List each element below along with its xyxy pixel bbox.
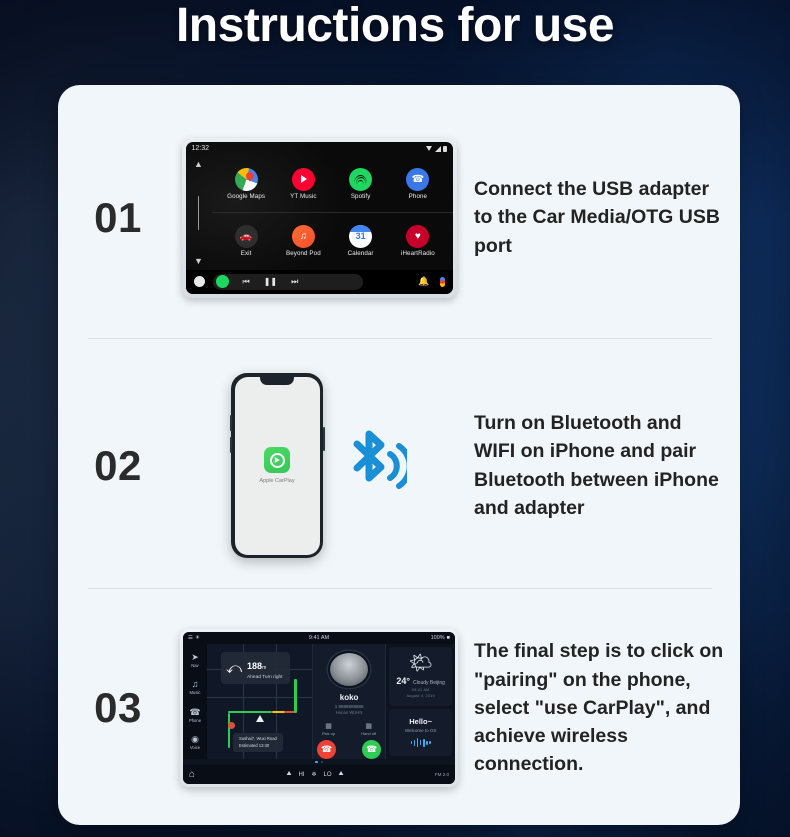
spotify-mini-icon[interactable] (216, 275, 229, 288)
status-time: 12:32 (192, 145, 210, 152)
volume-down-button[interactable] (230, 437, 232, 453)
step-media-1: 12:32 ▲ ▼ (178, 138, 460, 298)
calendar-day: 31 (349, 231, 372, 241)
turn-instruction-card: ⤺ 188m Ahead Turn right (221, 652, 290, 684)
step-number-2: 02 (58, 442, 178, 490)
previous-icon[interactable]: ⏮ (243, 277, 250, 287)
power-button[interactable] (323, 427, 325, 451)
iphone-device: Apple CarPlay (231, 373, 323, 558)
chevron-down-icon[interactable]: ▼ (194, 257, 203, 266)
step-number-3: 03 (58, 684, 178, 732)
eta-card: Sushai7, Wuxi Road Estimated 13:40 (233, 733, 283, 752)
battery-icon (443, 146, 447, 152)
step-item-1: 01 12:32 ▲ (58, 95, 740, 340)
turn-instruction: Ahead Turn right (247, 675, 282, 680)
app-label: Beyond Pod (276, 250, 330, 257)
media-controls: ⏮ ❚❚ ⏭ (213, 274, 363, 290)
turn-right-icon: ⤺ (226, 661, 242, 676)
wifi-icon: ☀ (195, 635, 200, 641)
bluetooth-icon (335, 420, 407, 512)
app-label: Spotify (334, 193, 388, 200)
eta-time: Estimated 13:40 (239, 743, 277, 749)
greeting-title: Hello~ (409, 717, 432, 726)
app-label: YT Music (276, 193, 330, 200)
weather-temperature: 24° (396, 676, 410, 686)
sidebar-item-voice[interactable]: ◉ Voice (190, 735, 200, 750)
app-phone[interactable]: ☎ Phone (391, 168, 445, 200)
carplay-bottom-bar: ⌂ ⛰ HI ❄ LO ⛰ FM 2.0 (183, 765, 455, 784)
app-label: Phone (391, 193, 445, 200)
app-google-maps[interactable]: Google Maps (219, 168, 273, 200)
exit-car-icon: 🚗 (235, 225, 258, 248)
music-note-icon: ♫ (190, 680, 201, 689)
step-text-3: The final step is to click on "pairing" … (460, 637, 740, 778)
accept-call-icon[interactable]: ☎ (362, 740, 381, 759)
beyondpod-icon: ♫ (292, 225, 315, 248)
caller-location: Hunan WUHN (336, 710, 363, 715)
pause-icon[interactable]: ❚❚ (264, 277, 277, 286)
instructions-card: 01 12:32 ▲ (58, 85, 740, 825)
greeting-widget[interactable]: Hello~ Welcome to OS (389, 709, 452, 756)
carplay-icon[interactable] (264, 447, 290, 473)
app-label: Google Maps (219, 193, 273, 200)
sidebar-item-nav[interactable]: ➤ Nav (191, 653, 199, 668)
sun-cloud-icon: 🌤 (409, 654, 433, 673)
defrost-front-icon[interactable]: ⛰ (286, 771, 291, 778)
home-icon[interactable]: ⌂ (189, 769, 195, 780)
carplay-map-panel[interactable]: ⤺ 188m Ahead Turn right Sushai7, Wuxi Ro… (207, 644, 312, 759)
volume-up-button[interactable] (230, 415, 232, 431)
app-spotify[interactable]: Spotify (334, 168, 388, 200)
app-row-1: Google Maps YT Music (212, 156, 453, 214)
climate-hi-label[interactable]: HI (298, 772, 304, 778)
carplay-head-unit: ☰ ☀ 9:41 AM 100% ■ ➤ Na (180, 629, 458, 787)
next-icon[interactable]: ⏭ (291, 277, 298, 287)
phone-icon: ☎ (406, 168, 429, 191)
caller-number: 1 8888888888 (335, 704, 364, 709)
sidebar-item-phone[interactable]: ☎ Phone (189, 708, 201, 723)
step-media-2: Apple CarPlay (178, 373, 460, 558)
battery-percent: 100% (431, 635, 445, 641)
step-item-2: 02 Apple CarPlay (58, 343, 740, 588)
sidebar-item-label: Voice (190, 745, 200, 750)
carplay-sidebar: ➤ Nav ♫ Music ☎ Phone (183, 644, 207, 759)
carplay-status-bar: ☰ ☀ 9:41 AM 100% ■ (183, 632, 455, 644)
wifi-icon (426, 146, 432, 151)
keypad-icon: ▦ (322, 722, 335, 730)
google-assistant-mic-icon[interactable] (440, 277, 445, 287)
greeting-subtitle: Welcome to OS (405, 728, 436, 733)
call-option-pickup[interactable]: ▦ Pick up (322, 722, 335, 736)
app-beyond-pod[interactable]: ♫ Beyond Pod (276, 225, 330, 257)
android-auto-head-unit: 12:32 ▲ ▼ (182, 138, 457, 298)
signal-icon (435, 146, 441, 152)
navigation-arrow-icon: ➤ (191, 653, 199, 662)
scrollbar-thumb[interactable] (198, 196, 200, 230)
android-auto-body: ▲ ▼ Google Maps (186, 156, 453, 270)
app-exit[interactable]: 🚗 Exit (219, 225, 273, 257)
climate-controls: ⛰ HI ❄ LO ⛰ (286, 771, 343, 778)
sidebar-item-label: Phone (189, 718, 201, 723)
carplay-app-label: Apple CarPlay (259, 478, 294, 484)
phone-handset-icon: ☎ (189, 708, 201, 717)
turn-distance: 188m (247, 661, 266, 671)
divider-2 (88, 588, 712, 589)
divider-1 (88, 338, 712, 339)
voice-circle-icon: ◉ (190, 735, 200, 744)
signal-icon: ☰ (188, 635, 193, 641)
avatar (328, 651, 370, 688)
sidebar-item-music[interactable]: ♫ Music (190, 680, 201, 695)
weather-time: 09:41 AM (412, 688, 430, 692)
carplay-call-panel: koko 1 8888888888 Hunan WUHN ▦ Pick up ▦ (312, 644, 386, 759)
android-auto-status-bar: 12:32 (186, 142, 453, 156)
weather-description: Cloudy Beijing (413, 680, 445, 686)
battery-icon: ■ (447, 635, 450, 641)
call-option-label: Hand off (361, 731, 376, 736)
defrost-rear-icon[interactable]: ⛰ (339, 771, 344, 778)
radio-label: FM 2.0 (435, 772, 449, 777)
page-title: Instructions for use (0, 0, 790, 56)
sidebar-item-label: Music (190, 690, 201, 695)
app-label: iHeartRadio (391, 250, 445, 257)
android-auto-app-grid: Google Maps YT Music (212, 156, 453, 270)
status-time: 9:41 AM (309, 635, 329, 641)
caller-name: koko (340, 693, 359, 702)
call-option-label: Pick up (322, 731, 335, 736)
app-calendar[interactable]: 31 Calendar (334, 225, 388, 257)
carplay-widgets-panel: 🌤 24° Cloudy Beijing 09:41 AM August 4, … (386, 644, 455, 759)
weather-widget[interactable]: 🌤 24° Cloudy Beijing 09:41 AM August 4, … (389, 647, 452, 706)
weather-date: August 4, 2019 (406, 694, 434, 698)
fan-icon[interactable]: ❄ (311, 771, 316, 778)
app-row-2: 🚗 Exit ♫ Beyond Pod (212, 213, 453, 270)
home-button[interactable] (194, 276, 205, 287)
app-label: Calendar (334, 250, 388, 257)
youtube-music-icon (292, 168, 315, 191)
decline-call-icon[interactable]: ☎ (317, 740, 336, 759)
android-auto-screen: 12:32 ▲ ▼ (186, 142, 453, 294)
call-options: ▦ Pick up ▦ Hand off (322, 722, 376, 736)
call-option-handoff[interactable]: ▦ Hand off (361, 722, 376, 736)
chevron-up-icon[interactable]: ▲ (194, 160, 203, 169)
spotify-icon (349, 168, 372, 191)
voice-waveform-icon (411, 738, 431, 747)
handoff-icon: ▦ (361, 722, 376, 730)
iheartradio-icon: ♥ (406, 225, 429, 248)
bell-icon[interactable]: 🔔 (418, 276, 429, 287)
android-auto-nav-bar: ⏮ ❚❚ ⏭ 🔔 (186, 270, 453, 294)
app-iheartradio[interactable]: ♥ iHeartRadio (391, 225, 445, 257)
step-text-1: Connect the USB adapter to the Car Media… (460, 175, 740, 260)
carplay-screen: ☰ ☀ 9:41 AM 100% ■ ➤ Na (183, 632, 455, 784)
step-media-3: ☰ ☀ 9:41 AM 100% ■ ➤ Na (178, 629, 460, 787)
step-number-1: 01 (58, 194, 178, 242)
eta-road: Sushai7, Wuxi Road (239, 736, 277, 742)
calendar-icon: 31 (349, 225, 372, 248)
step-item-3: 03 ☰ ☀ 9:41 AM 100% ■ (58, 593, 740, 823)
call-buttons: ☎ ☎ (317, 740, 381, 759)
climate-lo-label[interactable]: LO (324, 772, 332, 778)
app-yt-music[interactable]: YT Music (276, 168, 330, 200)
google-maps-icon (235, 168, 258, 191)
app-label: Exit (219, 250, 273, 257)
notch (260, 377, 294, 385)
iphone-screen: Apple CarPlay (235, 377, 320, 555)
vehicle-position-icon (256, 715, 264, 722)
android-auto-scroll-rail[interactable]: ▲ ▼ (186, 156, 212, 270)
carplay-main: ➤ Nav ♫ Music ☎ Phone (183, 644, 455, 759)
sidebar-item-label: Nav (191, 663, 199, 668)
step-text-2: Turn on Bluetooth and WIFI on iPhone and… (460, 409, 740, 522)
